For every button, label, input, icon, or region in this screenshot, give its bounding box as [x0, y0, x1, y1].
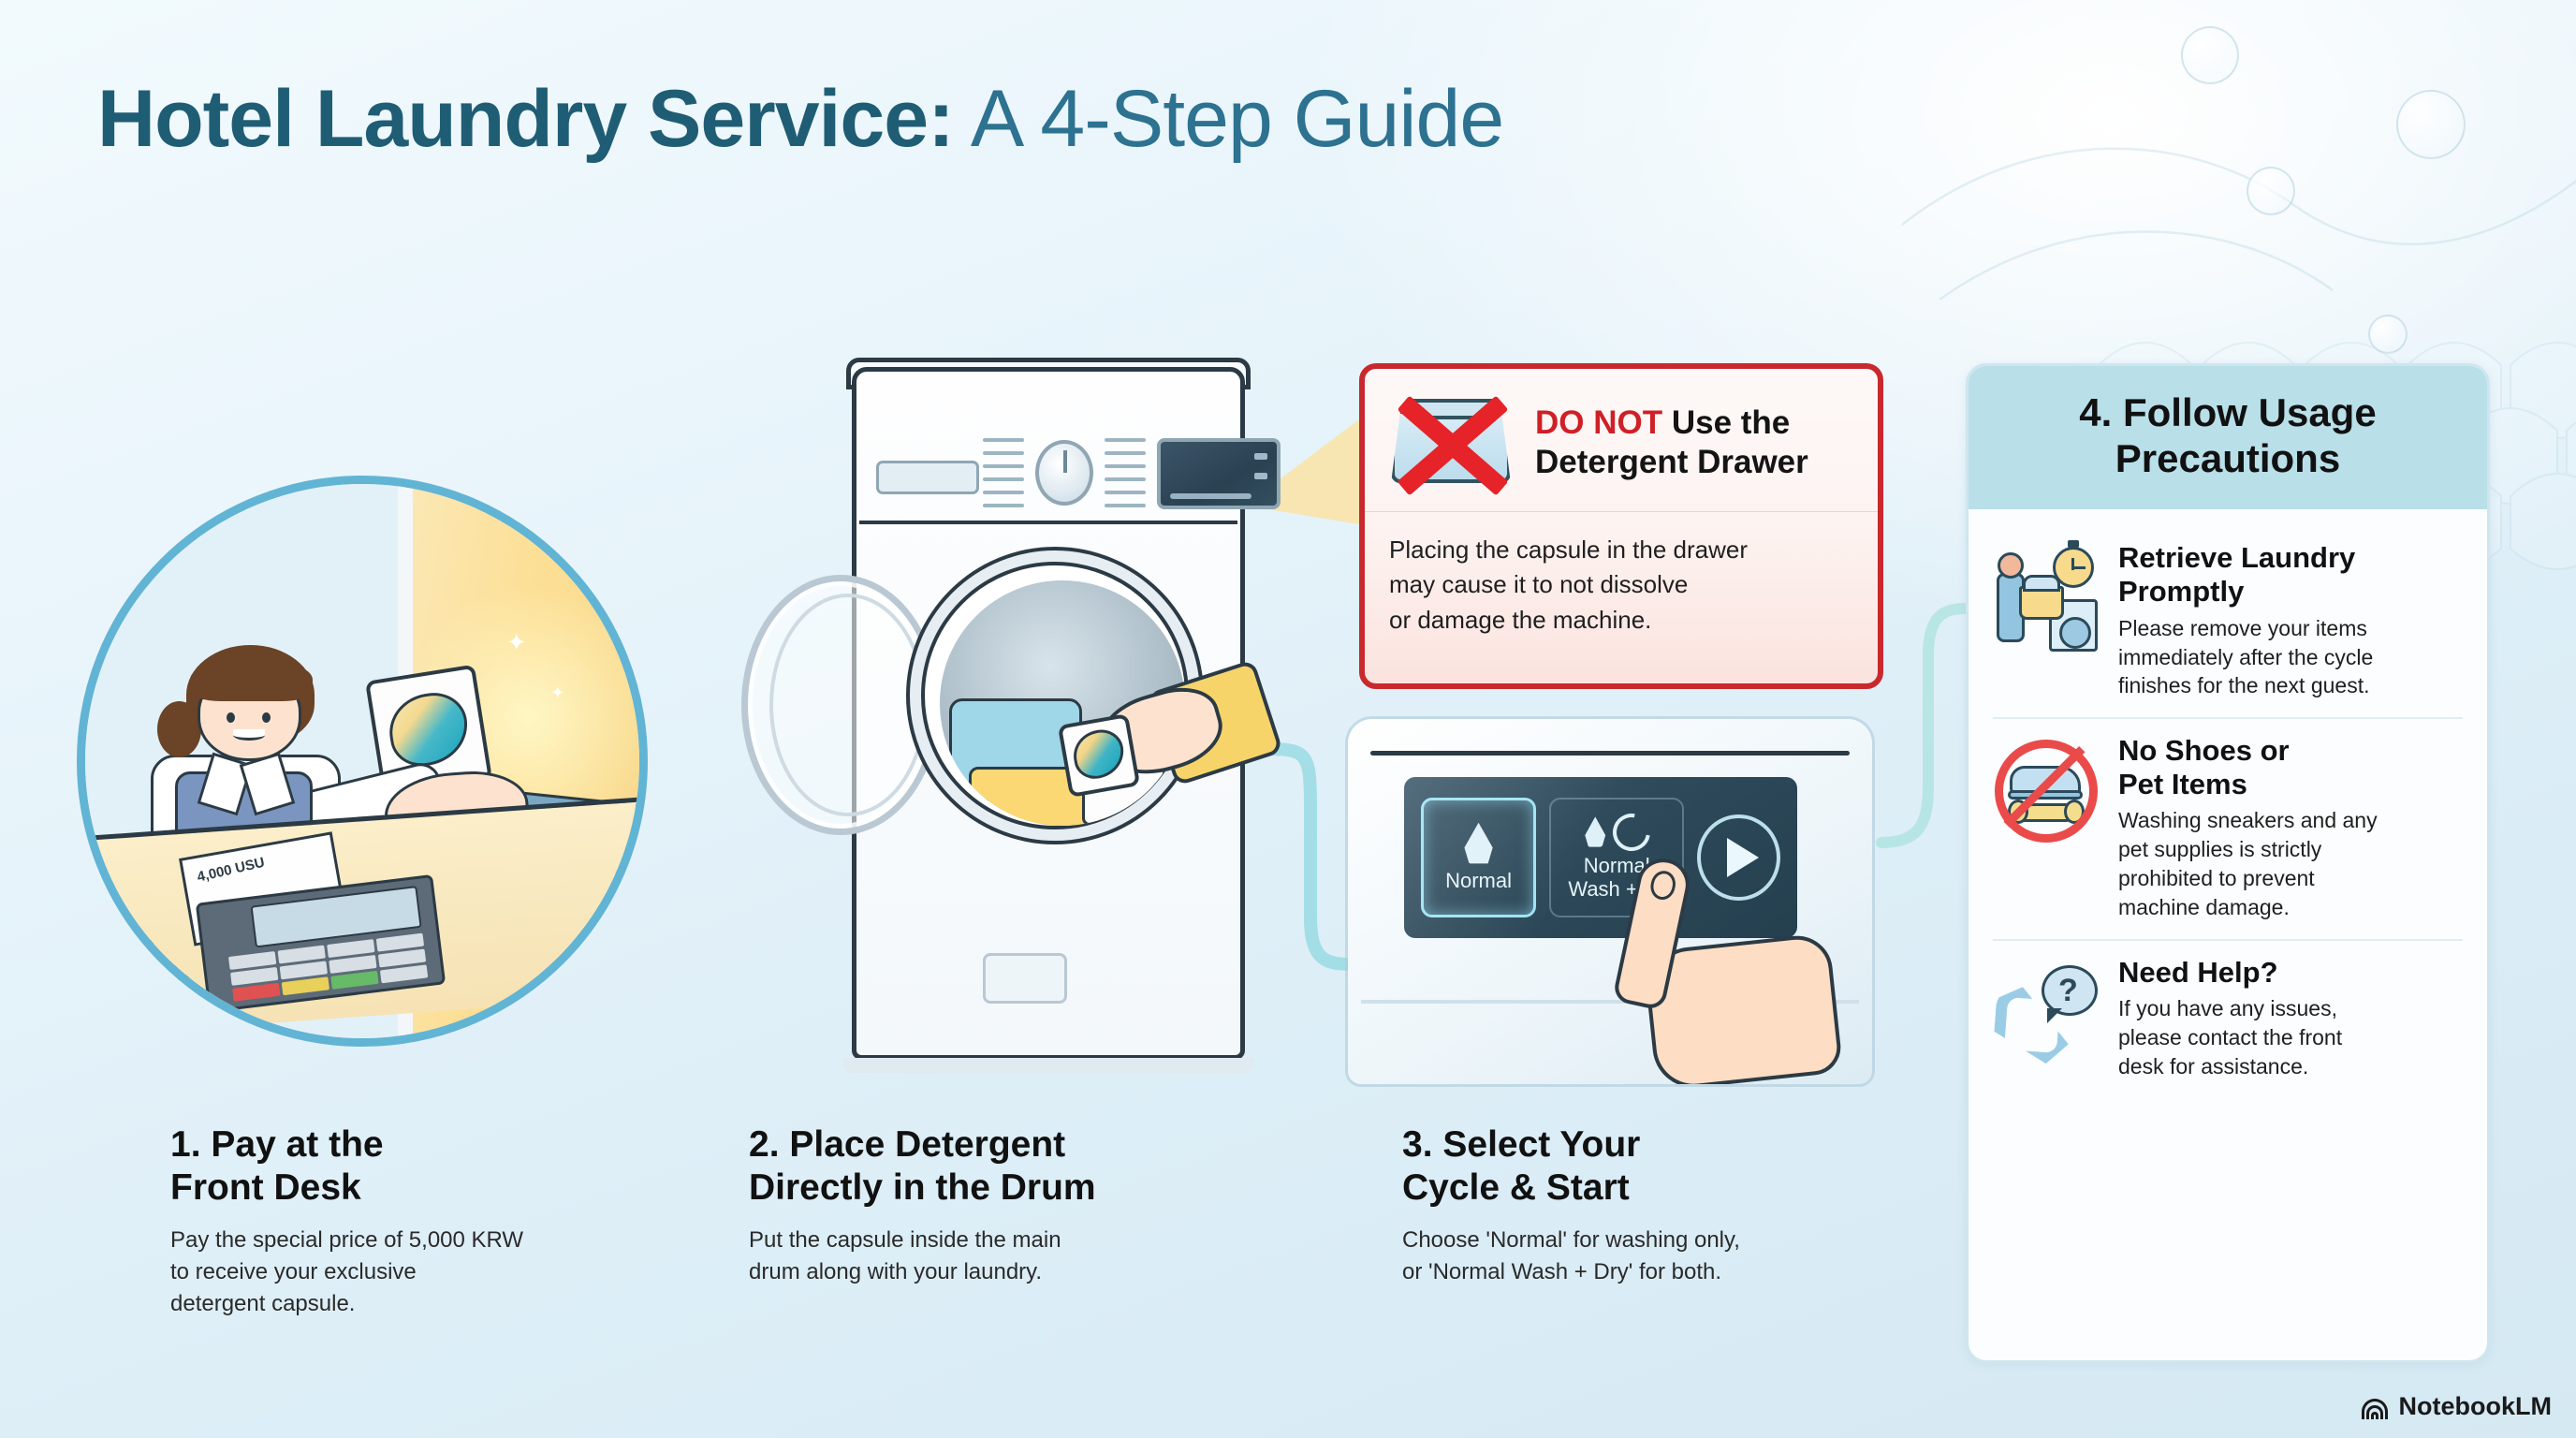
pointing-finger	[1617, 858, 1833, 1084]
precaution-item-no-shoes: No Shoes or Pet Items Washing sneakers a…	[1993, 719, 2463, 939]
step-4-precautions-panel: 4. Follow Usage Precautions Retrieve Lau…	[1966, 363, 2490, 1363]
warning-title-red: DO NOT	[1535, 404, 1662, 441]
page-title: Hotel Laundry Service: A 4-Step Guide	[97, 73, 1503, 166]
hand-with-capsule	[1056, 667, 1271, 788]
step-1-illustration: ✦ ✦ 4,000 USU	[77, 476, 648, 1047]
precaution-heading: Retrieve Laundry Promptly	[2118, 541, 2463, 608]
step-3-caption: 3. Select Your Cycle & Start Choose 'Nor…	[1402, 1123, 1945, 1288]
precaution-item-retrieve: Retrieve Laundry Promptly Please remove …	[1993, 526, 2463, 717]
no-shoes-pet-icon	[1993, 738, 2101, 846]
step-1-caption: 1. Pay at the Front Desk Pay the special…	[170, 1123, 695, 1320]
retrieve-laundry-icon	[1993, 545, 2101, 653]
step-3-body: Choose 'Normal' for washing only, or 'No…	[1402, 1225, 1945, 1288]
precaution-item-need-help: ? Need Help? If you have any issues, ple…	[1993, 941, 2463, 1098]
water-drop-icon	[1462, 823, 1496, 866]
precautions-title: 4. Follow Usage Precautions	[1985, 390, 2470, 481]
notebooklm-watermark: NotebookLM	[2362, 1392, 2552, 1421]
precaution-body: Washing sneakers and any pet supplies is…	[2118, 806, 2463, 921]
page-title-light: A 4-Step Guide	[954, 74, 1503, 164]
precautions-header: 4. Follow Usage Precautions	[1969, 366, 2487, 509]
water-drop-icon	[1583, 816, 1607, 848]
cycle-button-normal[interactable]: Normal	[1421, 798, 1536, 917]
cycle-normal-label: Normal	[1445, 870, 1512, 893]
bubble-decoration	[2181, 26, 2239, 84]
program-knob[interactable]	[1035, 440, 1093, 506]
infographic-canvas: Hotel Laundry Service: A 4-Step Guide ✦ …	[0, 0, 2576, 1438]
step-1-body: Pay the special price of 5,000 KRW to re…	[170, 1225, 695, 1320]
step-2-illustration	[749, 358, 1254, 1097]
phone-help-icon: ?	[1993, 960, 2101, 1068]
page-title-strong: Hotel Laundry Service:	[97, 74, 954, 164]
receipt-amount: 4,000 USU	[195, 855, 265, 886]
detergent-capsule-icon	[1058, 713, 1140, 798]
step-3-heading: 3. Select Your Cycle & Start	[1402, 1123, 1945, 1209]
precaution-body: If you have any issues, please contact t…	[2118, 994, 2463, 1080]
notebooklm-spiral-icon	[2362, 1395, 2390, 1419]
detergent-drawer	[876, 461, 979, 494]
question-mark-icon: ?	[2058, 973, 2078, 1009]
warning-title: DO NOT Use the Detergent Drawer	[1535, 404, 1857, 482]
bubble-decoration	[2247, 167, 2295, 215]
bubble-decoration	[2368, 315, 2408, 354]
precaution-body: Please remove your items immediately aft…	[2118, 614, 2463, 700]
do-not-use-drawer-warning: DO NOT Use the Detergent Drawer Placing …	[1359, 363, 1883, 689]
step-2-body: Put the capsule inside the main drum alo…	[749, 1225, 1329, 1288]
precaution-heading: Need Help?	[2118, 956, 2463, 990]
step-3-illustration: Normal Normal Wash + Dr	[1348, 719, 1872, 1084]
crossed-out-detergent-drawer-icon	[1382, 388, 1522, 498]
warning-body: Placing the capsule in the drawer may ca…	[1365, 512, 1878, 654]
washer-control-strip	[859, 406, 1237, 524]
bubble-decoration	[2396, 90, 2466, 159]
step-2-caption: 2. Place Detergent Directly in the Drum …	[749, 1123, 1329, 1288]
step-1-heading: 1. Pay at the Front Desk	[170, 1123, 695, 1209]
precaution-heading: No Shoes or Pet Items	[2118, 734, 2463, 800]
dry-cycle-icon	[1605, 807, 1658, 859]
washer-display	[1157, 438, 1281, 509]
step-2-heading: 2. Place Detergent Directly in the Drum	[749, 1123, 1329, 1209]
watermark-label: NotebookLM	[2399, 1392, 2552, 1421]
